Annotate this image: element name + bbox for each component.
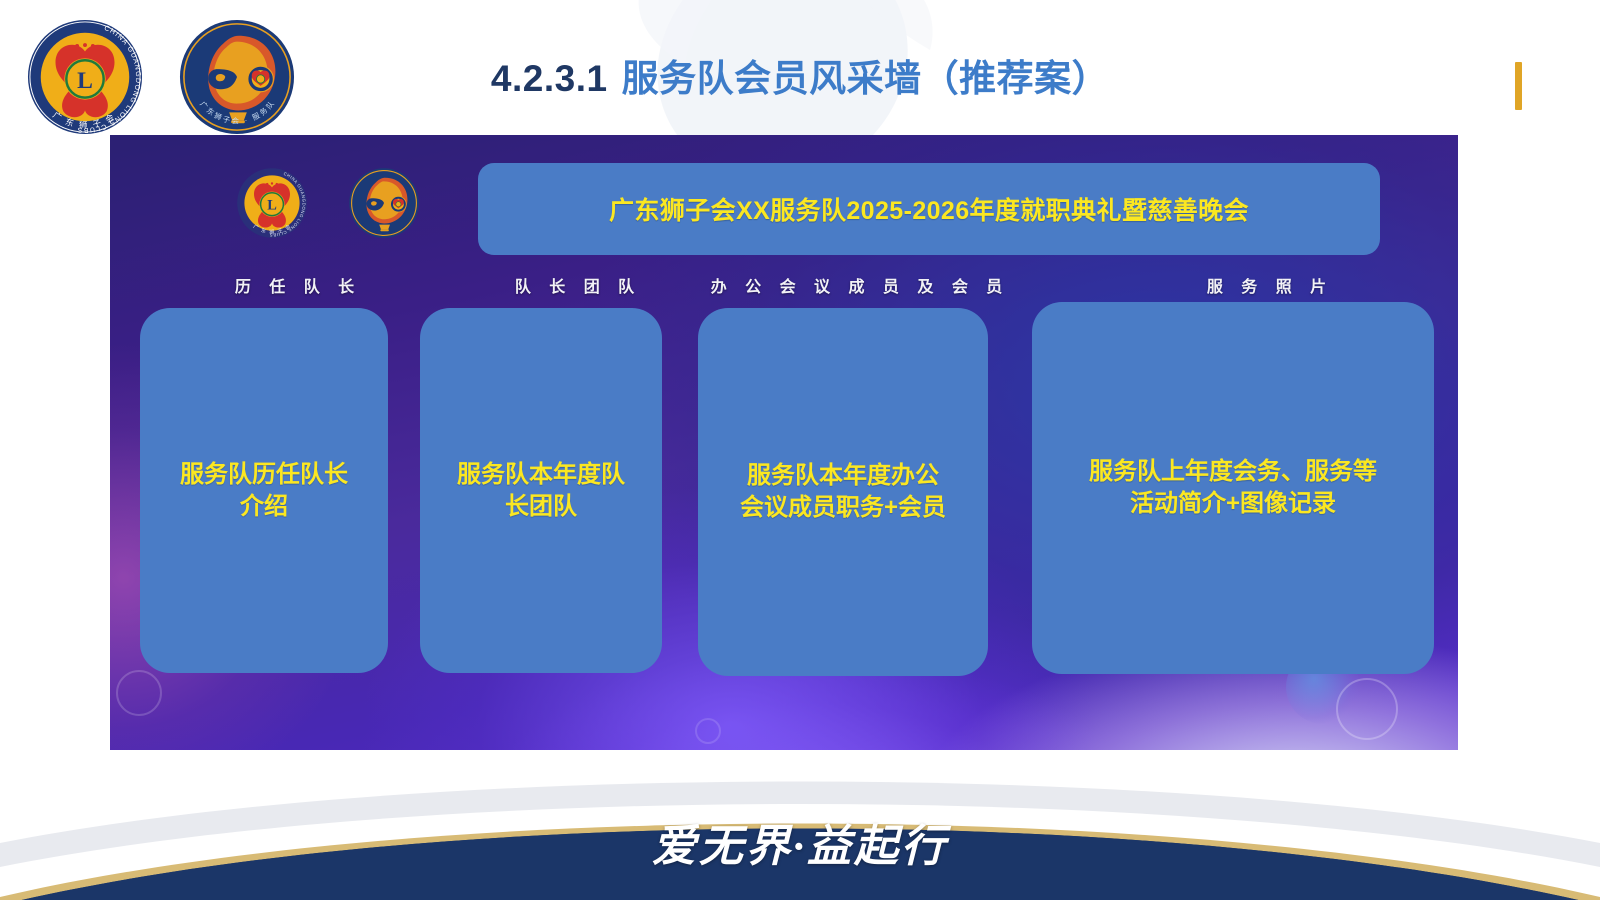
card-captain-team-text: 服务队本年度队 长团队 — [457, 459, 625, 522]
footer-decoration: 爱无界·益起行 — [0, 725, 1600, 900]
guangdong-lions-club-emblem-icon: L CHINA GUANGDONG LIONS CLUBS 广 东 狮 子 会 — [26, 18, 144, 136]
card-office-members-text: 服务队本年度办公 会议成员职务+会员 — [740, 460, 946, 523]
mockup-panel: L CHINA GUANGDONG LIONS CLUBS 广 东 狮 子 会 — [110, 135, 1458, 750]
lion-head-badge-icon — [348, 167, 420, 239]
card-service-photos[interactable]: 服务队上年度会务、服务等 活动简介+图像记录 — [1032, 302, 1434, 674]
slide-root: L CHINA GUANGDONG LIONS CLUBS 广 东 狮 子 会 — [0, 0, 1600, 900]
header-logo-row: L CHINA GUANGDONG LIONS CLUBS 广 东 狮 子 会 — [26, 18, 296, 136]
card-past-captains-text: 服务队历任队长 介绍 — [180, 459, 348, 522]
gold-tick-marker — [1515, 62, 1522, 110]
svg-text:L: L — [77, 68, 93, 94]
card-captain-team[interactable]: 服务队本年度队 长团队 — [420, 308, 662, 673]
title-text: 服务队会员风采墙（推荐案） — [622, 58, 1110, 99]
panel-logo-row: L CHINA GUANGDONG LIONS CLUBS 广 东 狮 子 会 — [236, 167, 420, 239]
event-title-text: 广东狮子会XX服务队2025-2026年度就职典礼暨慈善晚会 — [609, 191, 1249, 227]
event-title-banner[interactable]: 广东狮子会XX服务队2025-2026年度就职典礼暨慈善晚会 — [478, 163, 1380, 255]
lion-head-badge-icon: 广东狮子会 · 服务队 — [178, 18, 296, 136]
column-header-past-captains: 历 任 队 长 — [148, 273, 448, 297]
card-service-photos-text: 服务队上年度会务、服务等 活动简介+图像记录 — [1089, 456, 1377, 519]
bubble-ring-decoration — [116, 670, 162, 716]
svg-text:L: L — [267, 198, 277, 214]
section-number: 4.2.3.1 — [491, 58, 608, 99]
card-office-members[interactable]: 服务队本年度办公 会议成员职务+会员 — [698, 308, 988, 676]
guangdong-lions-club-emblem-icon: L CHINA GUANGDONG LIONS CLUBS 广 东 狮 子 会 — [236, 167, 308, 239]
column-header-service-photos: 服 务 照 片 — [1070, 273, 1458, 297]
column-header-office-members: 办 公 会 议 成 员 及 会 员 — [680, 273, 1040, 297]
card-past-captains[interactable]: 服务队历任队长 介绍 — [140, 308, 388, 673]
footer-navy-fill — [0, 725, 1600, 900]
